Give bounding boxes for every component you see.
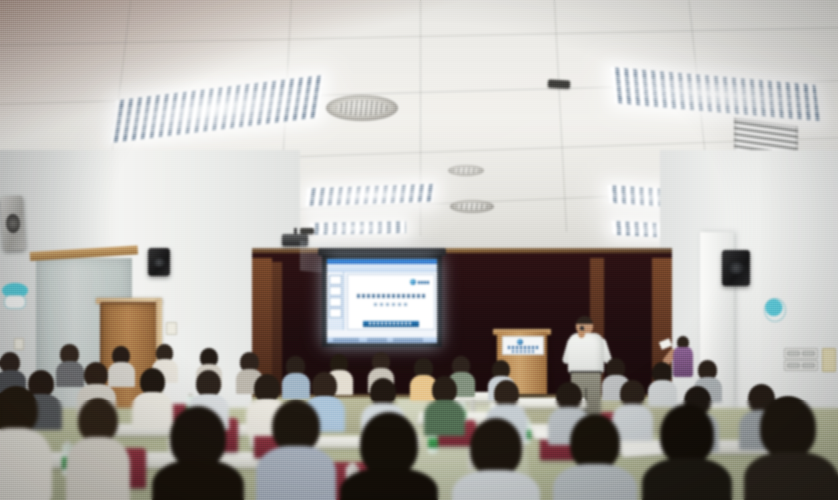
decal-base-shape xyxy=(4,295,26,309)
attendee-standing-right xyxy=(672,336,694,388)
attendee-head xyxy=(432,376,457,403)
ceiling-light-fixture xyxy=(310,221,406,235)
wall-plaque xyxy=(822,348,836,372)
round-air-diffuser xyxy=(448,165,484,176)
ceiling-projector xyxy=(282,234,308,246)
round-air-diffuser xyxy=(450,200,494,213)
slide-thumbnail[interactable] xyxy=(329,275,342,285)
slide-thumbnail[interactable] xyxy=(329,308,342,318)
attendee-head xyxy=(78,398,118,442)
slide-thumbnail[interactable] xyxy=(329,297,342,307)
attendee-head xyxy=(360,412,418,476)
wall-speaker-left xyxy=(1,195,26,250)
lectern-emblem-icon xyxy=(517,339,523,345)
lectern-sign-subtext xyxy=(512,350,536,353)
attendee-head xyxy=(760,396,816,458)
window-status-bar xyxy=(327,337,437,343)
bottle-cap xyxy=(65,441,71,445)
bottle-cap xyxy=(349,463,356,467)
attendee-torso xyxy=(0,428,52,500)
attendee-torso xyxy=(648,380,677,407)
attendee-torso xyxy=(56,361,84,387)
attendee-torso xyxy=(553,464,637,500)
projection-screen xyxy=(327,259,437,343)
attendee-torso xyxy=(282,373,310,399)
right-wall xyxy=(660,150,838,430)
attendee-head xyxy=(660,404,714,464)
sprinkler-head xyxy=(548,79,570,88)
conference-hall-photo xyxy=(0,0,838,500)
wall-speaker-right xyxy=(722,250,750,286)
attendee-head xyxy=(272,400,320,452)
attendee-torso xyxy=(642,458,732,500)
bottle-label xyxy=(428,438,438,448)
status-segment xyxy=(393,338,423,342)
attendee-head xyxy=(470,418,522,476)
attendee-head xyxy=(556,382,582,410)
round-air-diffuser xyxy=(326,95,398,121)
logo-mark-icon xyxy=(410,279,416,285)
slide-footer-band xyxy=(363,321,418,327)
bottle-cap xyxy=(188,393,193,397)
slide-title-text xyxy=(357,294,426,298)
bottle-cap xyxy=(460,399,464,403)
attendee-torso xyxy=(744,452,838,500)
lectern-sign xyxy=(502,336,544,355)
presentation-slide xyxy=(347,274,435,330)
attendee-head xyxy=(620,380,645,407)
wall-control-panel[interactable] xyxy=(784,348,818,359)
slide-logo xyxy=(410,279,430,285)
attendee-head xyxy=(370,378,396,406)
attendee-head xyxy=(494,380,519,407)
slide-thumbnail[interactable] xyxy=(329,286,342,296)
attendee-head xyxy=(140,368,165,395)
attendee-torso xyxy=(132,392,173,428)
light-glow xyxy=(310,221,406,235)
attendee-body xyxy=(673,347,693,377)
presenter-shirt xyxy=(568,333,604,373)
lectern-sign-text xyxy=(508,346,538,349)
attendee-torso xyxy=(66,437,130,500)
slide-footer-text xyxy=(369,322,413,325)
attendee-torso xyxy=(340,468,438,500)
attendee-head xyxy=(254,374,280,402)
wall-control-panel[interactable] xyxy=(784,360,818,371)
attendee-torso xyxy=(256,446,336,500)
wall-socket[interactable] xyxy=(14,338,24,350)
wall-decal-right xyxy=(764,298,786,322)
wall-socket[interactable] xyxy=(166,322,177,335)
attendee-head xyxy=(312,372,337,399)
slide-thumbnail-pane[interactable] xyxy=(327,272,344,330)
attendee-head xyxy=(196,370,221,397)
slide-subtitle-text xyxy=(374,303,410,306)
presenter-hand xyxy=(578,330,585,338)
attendee-head xyxy=(170,406,226,468)
attendee-torso xyxy=(108,362,135,387)
wall-decal-left xyxy=(0,278,30,312)
status-segment xyxy=(333,338,359,342)
logo-wordmark xyxy=(418,281,430,284)
front-wall-trim xyxy=(252,248,672,253)
attendee-head xyxy=(0,386,38,434)
attendee-torso xyxy=(424,400,465,436)
attendee-head xyxy=(570,414,620,470)
attendee-torso xyxy=(152,460,244,500)
status-segment xyxy=(367,338,387,342)
wall-speaker-left-2 xyxy=(148,248,170,276)
